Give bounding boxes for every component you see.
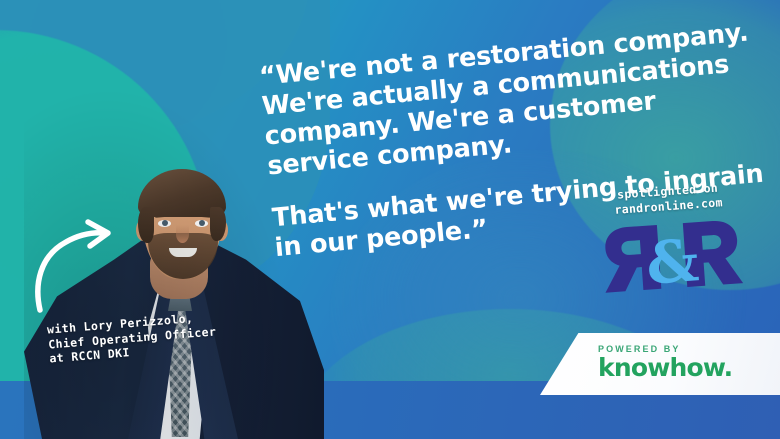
knowhow-logo: knowhow. (598, 355, 732, 381)
quote-card: with Lory Perizzolo, Chief Operating Off… (0, 0, 780, 439)
spotlight-block: spotlighted on randronline.com & (584, 178, 757, 302)
curved-arrow-icon (18, 212, 128, 322)
knowhow-wordmark: knowhow. (598, 355, 732, 381)
rand-r-logo[interactable]: & (587, 214, 758, 302)
nose (176, 225, 189, 243)
pupil-left (162, 220, 168, 226)
badge-content: POWERED BY knowhow. (598, 344, 732, 381)
pupil-right (199, 220, 205, 226)
powered-by-badge[interactable]: POWERED BY knowhow. (540, 333, 780, 395)
svg-text:&: & (644, 226, 701, 297)
hair-side-left (138, 207, 154, 243)
